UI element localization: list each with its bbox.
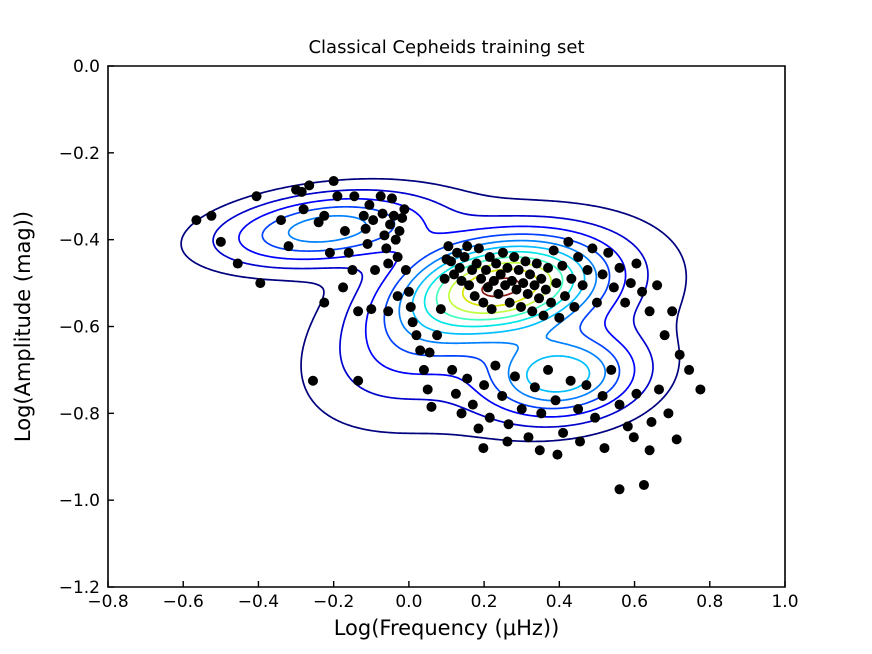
scatter-point — [478, 298, 488, 308]
scatter-point — [598, 391, 608, 401]
scatter-point — [216, 237, 226, 247]
scatter-point — [541, 285, 551, 295]
x-tick-label: 0.0 — [395, 592, 422, 612]
x-tick-label: −0.6 — [163, 592, 204, 612]
scatter-point — [378, 209, 388, 219]
scatter-point — [507, 276, 517, 286]
scatter-point — [590, 413, 600, 423]
scatter-point — [615, 484, 625, 494]
scatter-point — [603, 248, 613, 258]
scatter-point — [532, 259, 542, 269]
scatter-point — [481, 265, 491, 275]
scatter-point — [340, 226, 350, 236]
scatter-point — [474, 243, 484, 253]
scatter-point — [472, 259, 482, 269]
scatter-point — [359, 211, 369, 221]
scatter-point — [381, 243, 391, 253]
scatter-point — [370, 265, 380, 275]
scatter-point — [684, 365, 694, 375]
scatter-point — [479, 380, 489, 390]
scatter-point — [440, 274, 450, 284]
scatter-point — [457, 408, 467, 418]
y-tick-label: −0.2 — [59, 144, 100, 164]
y-tick-label: −0.6 — [59, 318, 100, 338]
scatter-point — [615, 400, 625, 410]
scatter-point — [487, 304, 497, 314]
scatter-point — [652, 280, 662, 290]
scatter-point — [364, 200, 374, 210]
scatter-point — [385, 219, 395, 229]
scatter-point — [520, 256, 530, 266]
scatter-point — [549, 246, 559, 256]
scatter-point — [468, 400, 478, 410]
x-tick-label: 0.2 — [471, 592, 498, 612]
scatter-point — [473, 424, 483, 434]
x-tick-label: −0.2 — [313, 592, 354, 612]
plot-title: Classical Cepheids training set — [308, 37, 584, 58]
scatter-point — [695, 384, 705, 394]
scatter-point — [284, 241, 294, 251]
scatter-point — [672, 434, 682, 444]
scatter-point — [534, 293, 544, 303]
scatter-point — [645, 306, 655, 316]
scatter-point — [645, 445, 655, 455]
scatter-point — [297, 187, 307, 197]
scatter-point — [338, 282, 348, 292]
scatter-point — [578, 280, 588, 290]
scatter-point — [563, 237, 573, 247]
scatter-point — [401, 265, 411, 275]
scatter-point — [646, 417, 656, 427]
scatter-point — [609, 282, 619, 292]
scatter-point — [383, 259, 393, 269]
scatter-point — [366, 304, 376, 314]
scatter-point — [325, 248, 335, 258]
scatter-point — [485, 413, 495, 423]
scatter-point — [626, 278, 636, 288]
scatter-point — [415, 345, 425, 355]
scatter-point — [587, 243, 597, 253]
y-tick-label: 0.0 — [73, 57, 100, 77]
scatter-point — [536, 408, 546, 418]
scatter-point — [476, 274, 486, 284]
scatter-point — [332, 191, 342, 201]
scatter-point — [462, 374, 472, 384]
scatter-point — [252, 191, 262, 201]
scatter-point — [447, 365, 457, 375]
scatter-point — [667, 306, 677, 316]
scatter-point — [383, 306, 393, 316]
scatter-point — [432, 330, 442, 340]
scatter-point — [233, 259, 243, 269]
x-tick-label: 0.6 — [621, 592, 648, 612]
scatter-point — [546, 298, 556, 308]
scatter-point — [543, 263, 553, 273]
scatter-point — [523, 289, 533, 299]
scatter-point — [493, 289, 503, 299]
scatter-point — [543, 365, 553, 375]
scatter-point — [518, 278, 528, 288]
scatter-point — [599, 443, 609, 453]
scatter-point — [554, 313, 564, 323]
scatter-point — [654, 384, 664, 394]
scatter-point — [517, 404, 527, 414]
scatter-point — [575, 437, 585, 447]
scatter-point — [566, 376, 576, 386]
scatter-point — [446, 256, 456, 266]
figure-background — [0, 0, 872, 654]
scatter-point — [583, 265, 593, 275]
scatter-point — [478, 443, 488, 453]
scatter-point — [347, 265, 357, 275]
scatter-point — [509, 252, 519, 262]
scatter-point — [391, 235, 401, 245]
scatter-point — [404, 287, 414, 297]
scatter-point — [411, 330, 421, 340]
scatter-point — [623, 421, 633, 431]
scatter-point — [304, 180, 314, 190]
scatter-point — [620, 298, 630, 308]
scatter-point — [368, 215, 378, 225]
scatter-point — [426, 402, 436, 412]
scatter-point — [598, 269, 608, 279]
scatter-point — [393, 291, 403, 301]
scatter-point — [497, 391, 507, 401]
scatter-point — [560, 291, 570, 301]
scatter-point — [581, 380, 591, 390]
scatter-point — [569, 302, 579, 312]
scatter-point — [527, 306, 537, 316]
y-tick-label: −0.4 — [59, 231, 100, 251]
scatter-point — [436, 304, 446, 314]
scatter-point — [379, 230, 389, 240]
scatter-point — [552, 450, 562, 460]
scatter-point — [502, 437, 512, 447]
scatter-point — [329, 176, 339, 186]
scatter-point — [470, 291, 480, 301]
scatter-point — [349, 191, 359, 201]
scatter-point — [344, 248, 354, 258]
scatter-point — [361, 224, 371, 234]
scatter-point — [308, 376, 318, 386]
scatter-point — [399, 204, 409, 214]
scatter-point — [406, 302, 416, 312]
scatter-point — [510, 371, 520, 381]
scatter-point — [663, 408, 673, 418]
x-tick-label: 1.0 — [771, 592, 798, 612]
scatter-point — [376, 191, 386, 201]
scatter-point — [502, 263, 512, 273]
scatter-point — [615, 263, 625, 273]
scatter-point — [462, 241, 472, 251]
scatter-point — [639, 480, 649, 490]
scatter-point — [425, 348, 435, 358]
scatter-point — [408, 317, 418, 327]
scatter-point — [606, 365, 616, 375]
x-tick-label: 0.8 — [696, 592, 723, 612]
scatter-point — [514, 265, 524, 275]
scatter-point — [464, 280, 474, 290]
scatter-point — [451, 389, 461, 399]
scatter-point — [393, 252, 403, 262]
scatter-point — [363, 239, 373, 249]
cepheids-scatter-contour-plot: Classical Cepheids training set −0.8−0.6… — [0, 0, 872, 654]
scatter-point — [394, 226, 404, 236]
scatter-point — [535, 445, 545, 455]
scatter-point — [460, 252, 470, 262]
y-tick-label: −0.8 — [59, 404, 100, 424]
scatter-point — [539, 311, 549, 321]
scatter-point — [516, 302, 526, 312]
scatter-point — [566, 274, 576, 284]
y-tick-label: −1.0 — [59, 491, 100, 511]
scatter-point — [353, 306, 363, 316]
scatter-point — [558, 428, 568, 438]
scatter-point — [255, 278, 265, 288]
x-tick-label: 0.4 — [546, 592, 573, 612]
x-axis-label: Log(Frequency (μHz)) — [334, 616, 560, 640]
scatter-point — [573, 252, 583, 262]
scatter-point — [660, 330, 670, 340]
scatter-point — [423, 384, 433, 394]
scatter-point — [551, 395, 561, 405]
scatter-point — [536, 274, 546, 284]
scatter-point — [419, 365, 429, 375]
scatter-point — [276, 215, 286, 225]
scatter-point — [206, 211, 216, 221]
scatter-point — [498, 248, 508, 258]
scatter-point — [299, 204, 309, 214]
scatter-point — [525, 269, 535, 279]
scatter-point — [191, 215, 201, 225]
scatter-point — [353, 376, 363, 386]
y-axis-label: Log(Amplitude (mag)) — [11, 211, 35, 442]
scatter-point — [631, 389, 641, 399]
scatter-point — [504, 419, 514, 429]
scatter-point — [631, 259, 641, 269]
scatter-point — [523, 432, 533, 442]
scatter-point — [387, 193, 397, 203]
y-tick-label: −1.2 — [59, 578, 100, 598]
scatter-point — [397, 213, 407, 223]
scatter-point — [319, 211, 329, 221]
scatter-point — [443, 241, 453, 251]
scatter-point — [490, 361, 500, 371]
scatter-point — [675, 350, 685, 360]
scatter-point — [551, 278, 561, 288]
scatter-point — [505, 298, 515, 308]
scatter-point — [491, 259, 501, 269]
x-tick-label: −0.4 — [238, 592, 279, 612]
scatter-point — [637, 287, 647, 297]
scatter-point — [557, 261, 567, 271]
scatter-point — [573, 404, 583, 414]
figure-canvas: Classical Cepheids training set −0.8−0.6… — [0, 0, 872, 654]
scatter-point — [319, 298, 329, 308]
scatter-point — [592, 298, 602, 308]
scatter-point — [455, 263, 465, 273]
scatter-point — [530, 382, 540, 392]
scatter-point — [629, 432, 639, 442]
